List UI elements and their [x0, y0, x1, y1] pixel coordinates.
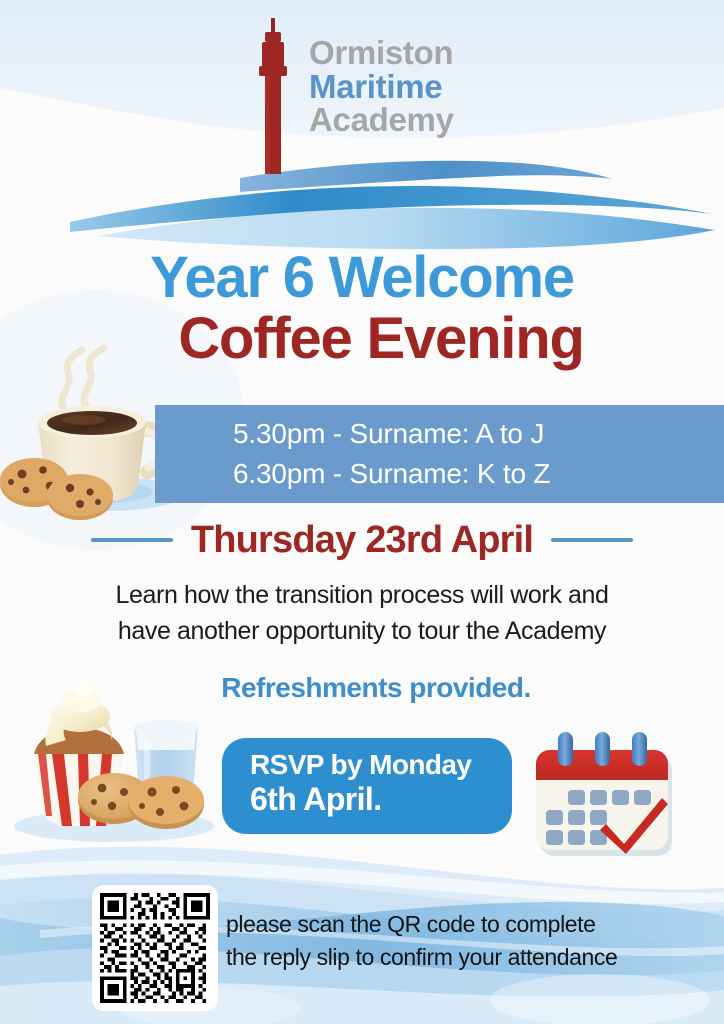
session-time-1: 5.30pm - Surname: A to J [233, 414, 724, 454]
calendar-with-checkmark-illustration [520, 728, 690, 863]
event-description: Learn how the transition process will wo… [40, 578, 684, 649]
session-time-2: 6.30pm - Surname: K to Z [233, 454, 724, 494]
qr-caption: please scan the QR code to complete the … [226, 908, 706, 973]
rsvp-line-2: 6th April. [250, 781, 512, 817]
headline-line-1: Year 6 Welcome [0, 248, 724, 307]
logo-line-academy: Academy [309, 103, 454, 137]
academy-logo: Ormiston Maritime Academy [243, 16, 543, 166]
qr-code-icon [100, 893, 210, 1003]
qr-code[interactable] [92, 885, 218, 1011]
logo-line-maritime: Maritime [309, 70, 454, 104]
event-date-row: Thursday 23rd April [0, 515, 724, 565]
session-times-band: 5.30pm - Surname: A to J 6.30pm - Surnam… [155, 405, 724, 503]
description-line-1: Learn how the transition process will wo… [40, 578, 684, 614]
event-date: Thursday 23rd April [191, 519, 533, 562]
description-line-2: have another opportunity to tour the Aca… [40, 614, 684, 650]
rsvp-bubble: RSVP by Monday 6th April. [222, 738, 512, 834]
headline-block: Year 6 Welcome Coffee Evening [0, 248, 724, 368]
refreshments-note: Refreshments provided. [0, 672, 724, 704]
logo-line-ormiston: Ormiston [309, 36, 454, 70]
date-rule-left [91, 538, 173, 542]
headline-line-2: Coffee Evening [0, 309, 724, 368]
date-rule-right [551, 538, 633, 542]
rsvp-line-1: RSVP by Monday [250, 748, 512, 781]
qr-caption-line-2: the reply slip to confirm your attendanc… [226, 941, 706, 974]
poster-root: Ormiston Maritime Academy [0, 0, 724, 1024]
qr-caption-line-1: please scan the QR code to complete [226, 908, 706, 941]
tower-icon [251, 16, 297, 176]
